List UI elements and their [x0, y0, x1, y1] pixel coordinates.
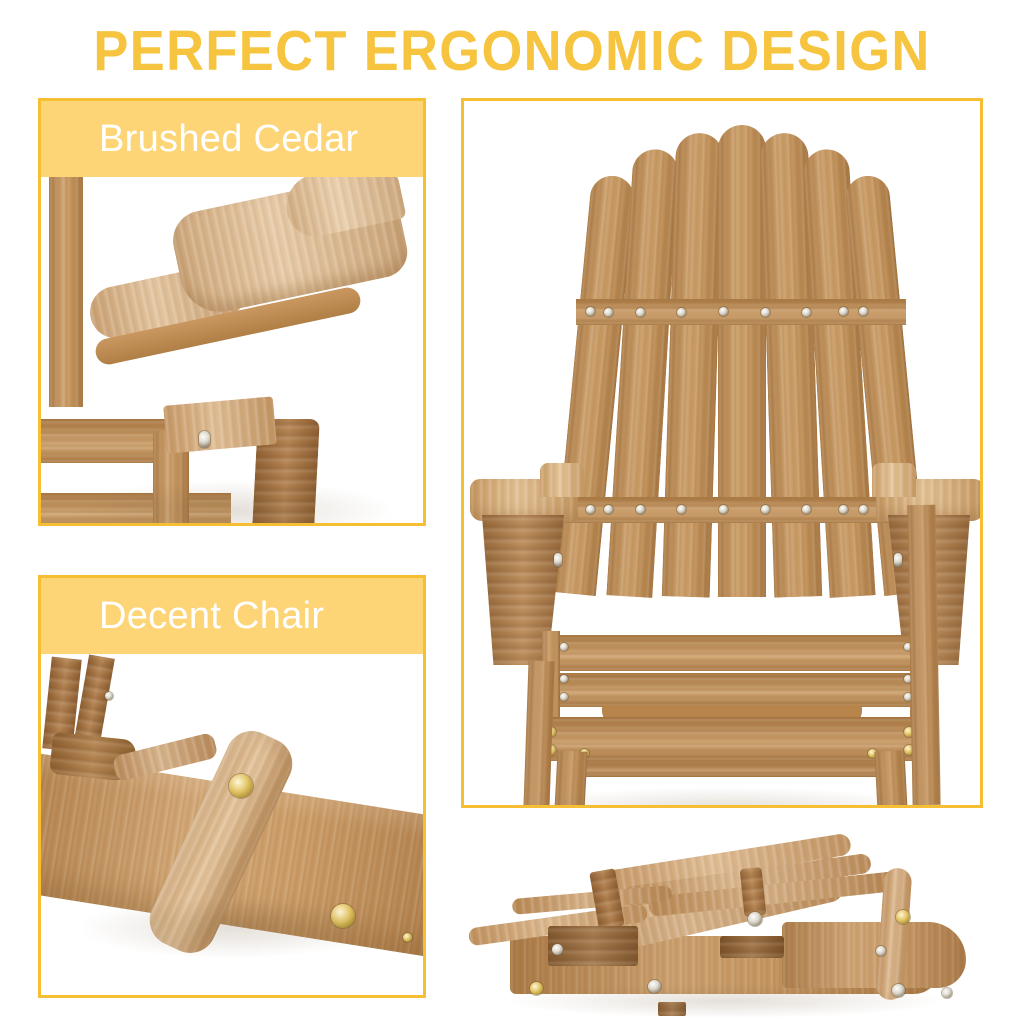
folded-chair-photo [452, 818, 1012, 1018]
banner-label-brushed-cedar: Brushed Cedar [99, 118, 359, 160]
panel-main-chair [461, 98, 983, 808]
page-title: PERFECT ERGONOMIC DESIGN [41, 20, 983, 82]
product-infographic: PERFECT ERGONOMIC DESIGN [0, 0, 1024, 1024]
panel-decent-chair: Decent Chair [38, 575, 426, 998]
panel-brushed-cedar: Brushed Cedar [38, 98, 426, 526]
panel-folded-chair [452, 818, 1012, 1018]
banner-decent-chair: Decent Chair [41, 578, 423, 654]
main-chair-photo [464, 101, 980, 805]
banner-brushed-cedar: Brushed Cedar [41, 101, 423, 177]
banner-label-decent-chair: Decent Chair [99, 595, 324, 637]
